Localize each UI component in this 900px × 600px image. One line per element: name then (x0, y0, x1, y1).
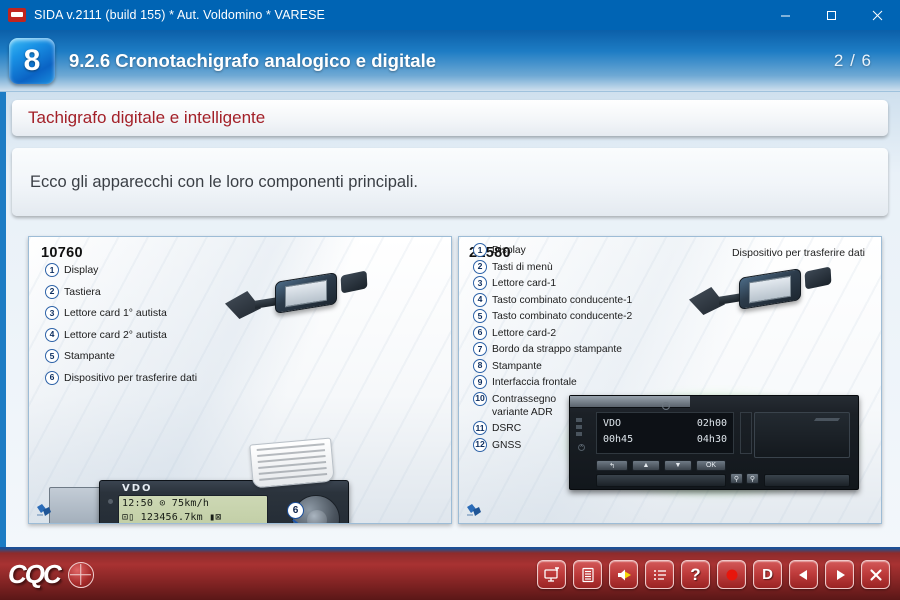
app-window: SIDA v.2111 (build 155) * Aut. Voldomino… (0, 0, 900, 600)
legend-label: Bordo da strappo stampante (492, 342, 622, 356)
legend-number: 4 (473, 293, 487, 307)
legend-label: Stampante (64, 349, 115, 363)
legend-item: 5 Stampante (45, 349, 197, 363)
legend-item: 4 Tasto combinato conducente-1 (473, 293, 632, 307)
legend-number: 1 (45, 263, 59, 277)
display-brand: VDO (603, 418, 621, 429)
cqc-logo-text: CQC (8, 559, 60, 590)
legend-item: 6 Dispositivo per trasferire dati (45, 371, 197, 385)
legend-item: 8 Stampante (473, 359, 632, 373)
smart-tachograph: ^ VDO 02h00 00h45 04h30 ↰ ▲ ▼ (569, 395, 859, 490)
combined-button-driver-2[interactable]: ⚲ (746, 473, 759, 484)
figure-panel-right[interactable]: 21580 Dispositivo per trasferire dati 1 … (458, 236, 882, 524)
truck-icon (8, 8, 26, 22)
card-slot-1[interactable] (596, 474, 726, 487)
figure-panel-left[interactable]: 10760 1 Display 2 Tastiera 3 Lettore car… (28, 236, 452, 524)
help-label: ? (690, 565, 700, 585)
legend-label: GNSS (492, 438, 521, 452)
figure-code-left: 10760 (41, 245, 83, 261)
broken-image-icon (467, 504, 481, 517)
data-transfer-device-illustration (225, 263, 375, 333)
device-mount-bracket (49, 487, 104, 524)
device-body (275, 272, 337, 314)
button-back[interactable]: ↰ (596, 460, 628, 471)
device-stem (719, 293, 741, 304)
legend-item: 5 Tasto combinato conducente-2 (473, 309, 632, 323)
legend-number: 2 (45, 285, 59, 299)
tachograph-display: 12:50 ⊙ 75km/h ⊡▯ 123456.7km ▮⊠ (118, 495, 268, 524)
record-button[interactable] (717, 560, 746, 589)
minimize-button[interactable] (762, 0, 808, 30)
legend-left: 1 Display 2 Tastiera 3 Lettore card 1° a… (45, 263, 197, 392)
legend-number: 4 (45, 328, 59, 342)
bottom-toolbar: CQC (0, 547, 900, 600)
legend-label: Lettore card-1 (492, 276, 556, 290)
legend-label: Tasto combinato conducente-2 (492, 309, 632, 323)
dictionary-button[interactable]: D (753, 560, 782, 589)
display-drive-time: 02h00 (697, 418, 727, 429)
legend-label: Tasto combinato conducente-1 (492, 293, 632, 307)
close-button[interactable] (854, 0, 900, 30)
button-ok[interactable]: OK (696, 460, 726, 471)
legend-label: Interfaccia frontale (492, 375, 577, 389)
legend-number: 9 (473, 375, 487, 389)
legend-item: 2 Tasti di menù (473, 260, 632, 274)
chapter-badge: 8 (9, 38, 55, 84)
device-cap (341, 270, 368, 293)
device-top-face (570, 396, 690, 408)
title-bar: SIDA v.2111 (build 155) * Aut. Voldomino… (0, 0, 900, 30)
adr-marking-slot (740, 412, 752, 454)
legend-item: 6 Lettore card-2 (473, 326, 632, 340)
legend-number: 6 (473, 326, 487, 340)
callout-6-top: 6 (287, 502, 304, 519)
device-stem (255, 297, 277, 308)
legend-item: 3 Lettore card-1 (473, 276, 632, 290)
legend-item: 3 Lettore card 1° autista (45, 306, 197, 320)
legend-label: Tastiera (64, 285, 101, 299)
next-button[interactable] (825, 560, 854, 589)
legend-number: 12 (473, 438, 487, 452)
maximize-button[interactable] (808, 0, 854, 30)
legend-number: 2 (473, 260, 487, 274)
brand-area: CQC (8, 559, 94, 590)
legend-number: 3 (45, 306, 59, 320)
vdo-brand-label: VDO (122, 483, 153, 494)
legend-label: Stampante (492, 359, 542, 373)
legend-item: 1 Display (45, 263, 197, 277)
legend-label: Lettore card 1° autista (64, 306, 167, 320)
window-controls (762, 0, 900, 30)
legend-number: 1 (473, 243, 487, 257)
device-body (739, 268, 801, 310)
broken-image-icon (37, 504, 51, 517)
index-button[interactable] (645, 560, 674, 589)
tachograph-display: VDO 02h00 00h45 04h30 (596, 412, 734, 454)
combined-button-driver-1[interactable]: ⚲ (730, 473, 743, 484)
legend-number: 5 (473, 309, 487, 323)
device-cap (805, 266, 832, 289)
legend-number: 7 (473, 342, 487, 356)
legend-number: 5 (45, 349, 59, 363)
section-title-card: Tachigrafo digitale e intelligente (12, 100, 888, 136)
presentation-button[interactable] (537, 560, 566, 589)
legend-number: 6 (45, 371, 59, 385)
printer-paper (249, 438, 335, 489)
display-break-time: 00h45 (603, 434, 633, 445)
display-row-2: 00h45 04h30 (603, 434, 727, 445)
lesson-header: 8 9.2.6 Cronotachigrafo analogico e digi… (0, 30, 900, 92)
legend-item: 4 Lettore card 2° autista (45, 328, 197, 342)
legend-label: DSRC (492, 421, 521, 435)
legend-label: Tasti di menù (492, 260, 553, 274)
data-transfer-device-illustration (689, 259, 839, 329)
legend-label: Display (492, 243, 526, 257)
exit-button[interactable] (861, 560, 890, 589)
button-up[interactable]: ▲ (632, 460, 660, 471)
body-text: Ecco gli apparecchi con le loro componen… (30, 173, 418, 192)
page-title: 9.2.6 Cronotachigrafo analogico e digita… (69, 50, 436, 72)
display-daily-time: 04h30 (697, 434, 727, 445)
figure-note-right: Dispositivo per trasferire dati (732, 247, 865, 259)
legend-item: 7 Bordo da strappo stampante (473, 342, 632, 356)
window-title: SIDA v.2111 (build 155) * Aut. Voldomino… (34, 8, 325, 22)
legend-label: Lettore card-2 (492, 326, 556, 340)
printer-drawer[interactable] (754, 412, 850, 458)
legend-item: 2 Tastiera (45, 285, 197, 299)
legend-label: Lettore card 2° autista (64, 328, 167, 342)
display-line-2: ⊡▯ 123456.7km ▮⊠ (122, 512, 264, 523)
notes-button[interactable] (573, 560, 602, 589)
display-line-1: 12:50 ⊙ 75km/h (122, 498, 264, 509)
audio-button[interactable] (609, 560, 638, 589)
help-button[interactable]: ? (681, 560, 710, 589)
section-title: Tachigrafo digitale e intelligente (28, 108, 265, 128)
display-row-1: VDO 02h00 (603, 418, 727, 429)
legend-label: Dispositivo per trasferire dati (64, 371, 197, 385)
previous-button[interactable] (789, 560, 818, 589)
legend-number: 10 (473, 392, 487, 406)
dictionary-label: D (762, 566, 773, 583)
slide-content: Tachigrafo digitale e intelligente Ecco … (0, 92, 900, 547)
toolbar-buttons: ? D (537, 560, 890, 589)
legend-number: 11 (473, 421, 487, 435)
analog-digital-tachograph: VDO 12:50 ⊙ 75km/h ⊡▯ 123456.7km ▮⊠ 1 ▲ … (99, 480, 349, 524)
globe-icon[interactable] (68, 562, 94, 588)
legend-label: Contrassegno variante ADR (492, 392, 556, 419)
legend-item: 9 Interfaccia frontale (473, 375, 632, 389)
legend-number: 8 (473, 359, 487, 373)
legend-item: 1 Display (473, 243, 632, 257)
button-down[interactable]: ▼ (664, 460, 692, 471)
legend-number: 3 (473, 276, 487, 290)
page-indicator: 2 / 6 (834, 51, 872, 71)
body-text-card: Ecco gli apparecchi con le loro componen… (12, 148, 888, 216)
card-slot-2[interactable] (764, 474, 850, 487)
legend-label: Display (64, 263, 98, 277)
